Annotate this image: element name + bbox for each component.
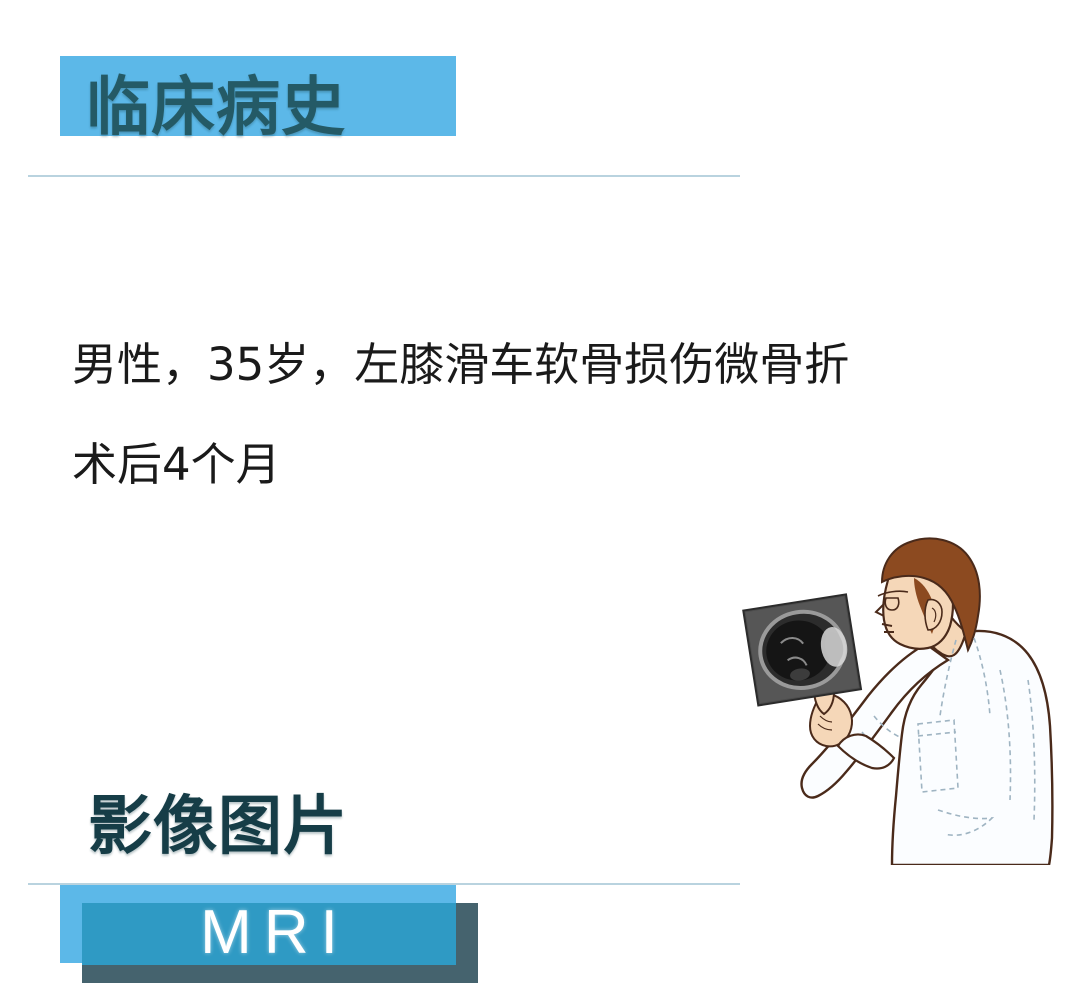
mri-subtitle: MRI [82,888,456,978]
divider-top [28,175,740,177]
slide-canvas: 临床病史 男性，35岁，左膝滑车软骨损伤微骨折 术后4个月 [0,0,1080,1000]
doctor-illustration [742,520,1080,865]
imaging-heading: 影像图片 [88,795,348,859]
body-line-2: 术后4个月 [72,415,1012,515]
clinical-history-body: 男性，35岁，左膝滑车软骨损伤微骨折 术后4个月 [72,315,1012,515]
clinical-history-heading: 临床病史 [86,76,346,140]
body-line-1: 男性，35岁，左膝滑车软骨损伤微骨折 [72,315,1012,415]
